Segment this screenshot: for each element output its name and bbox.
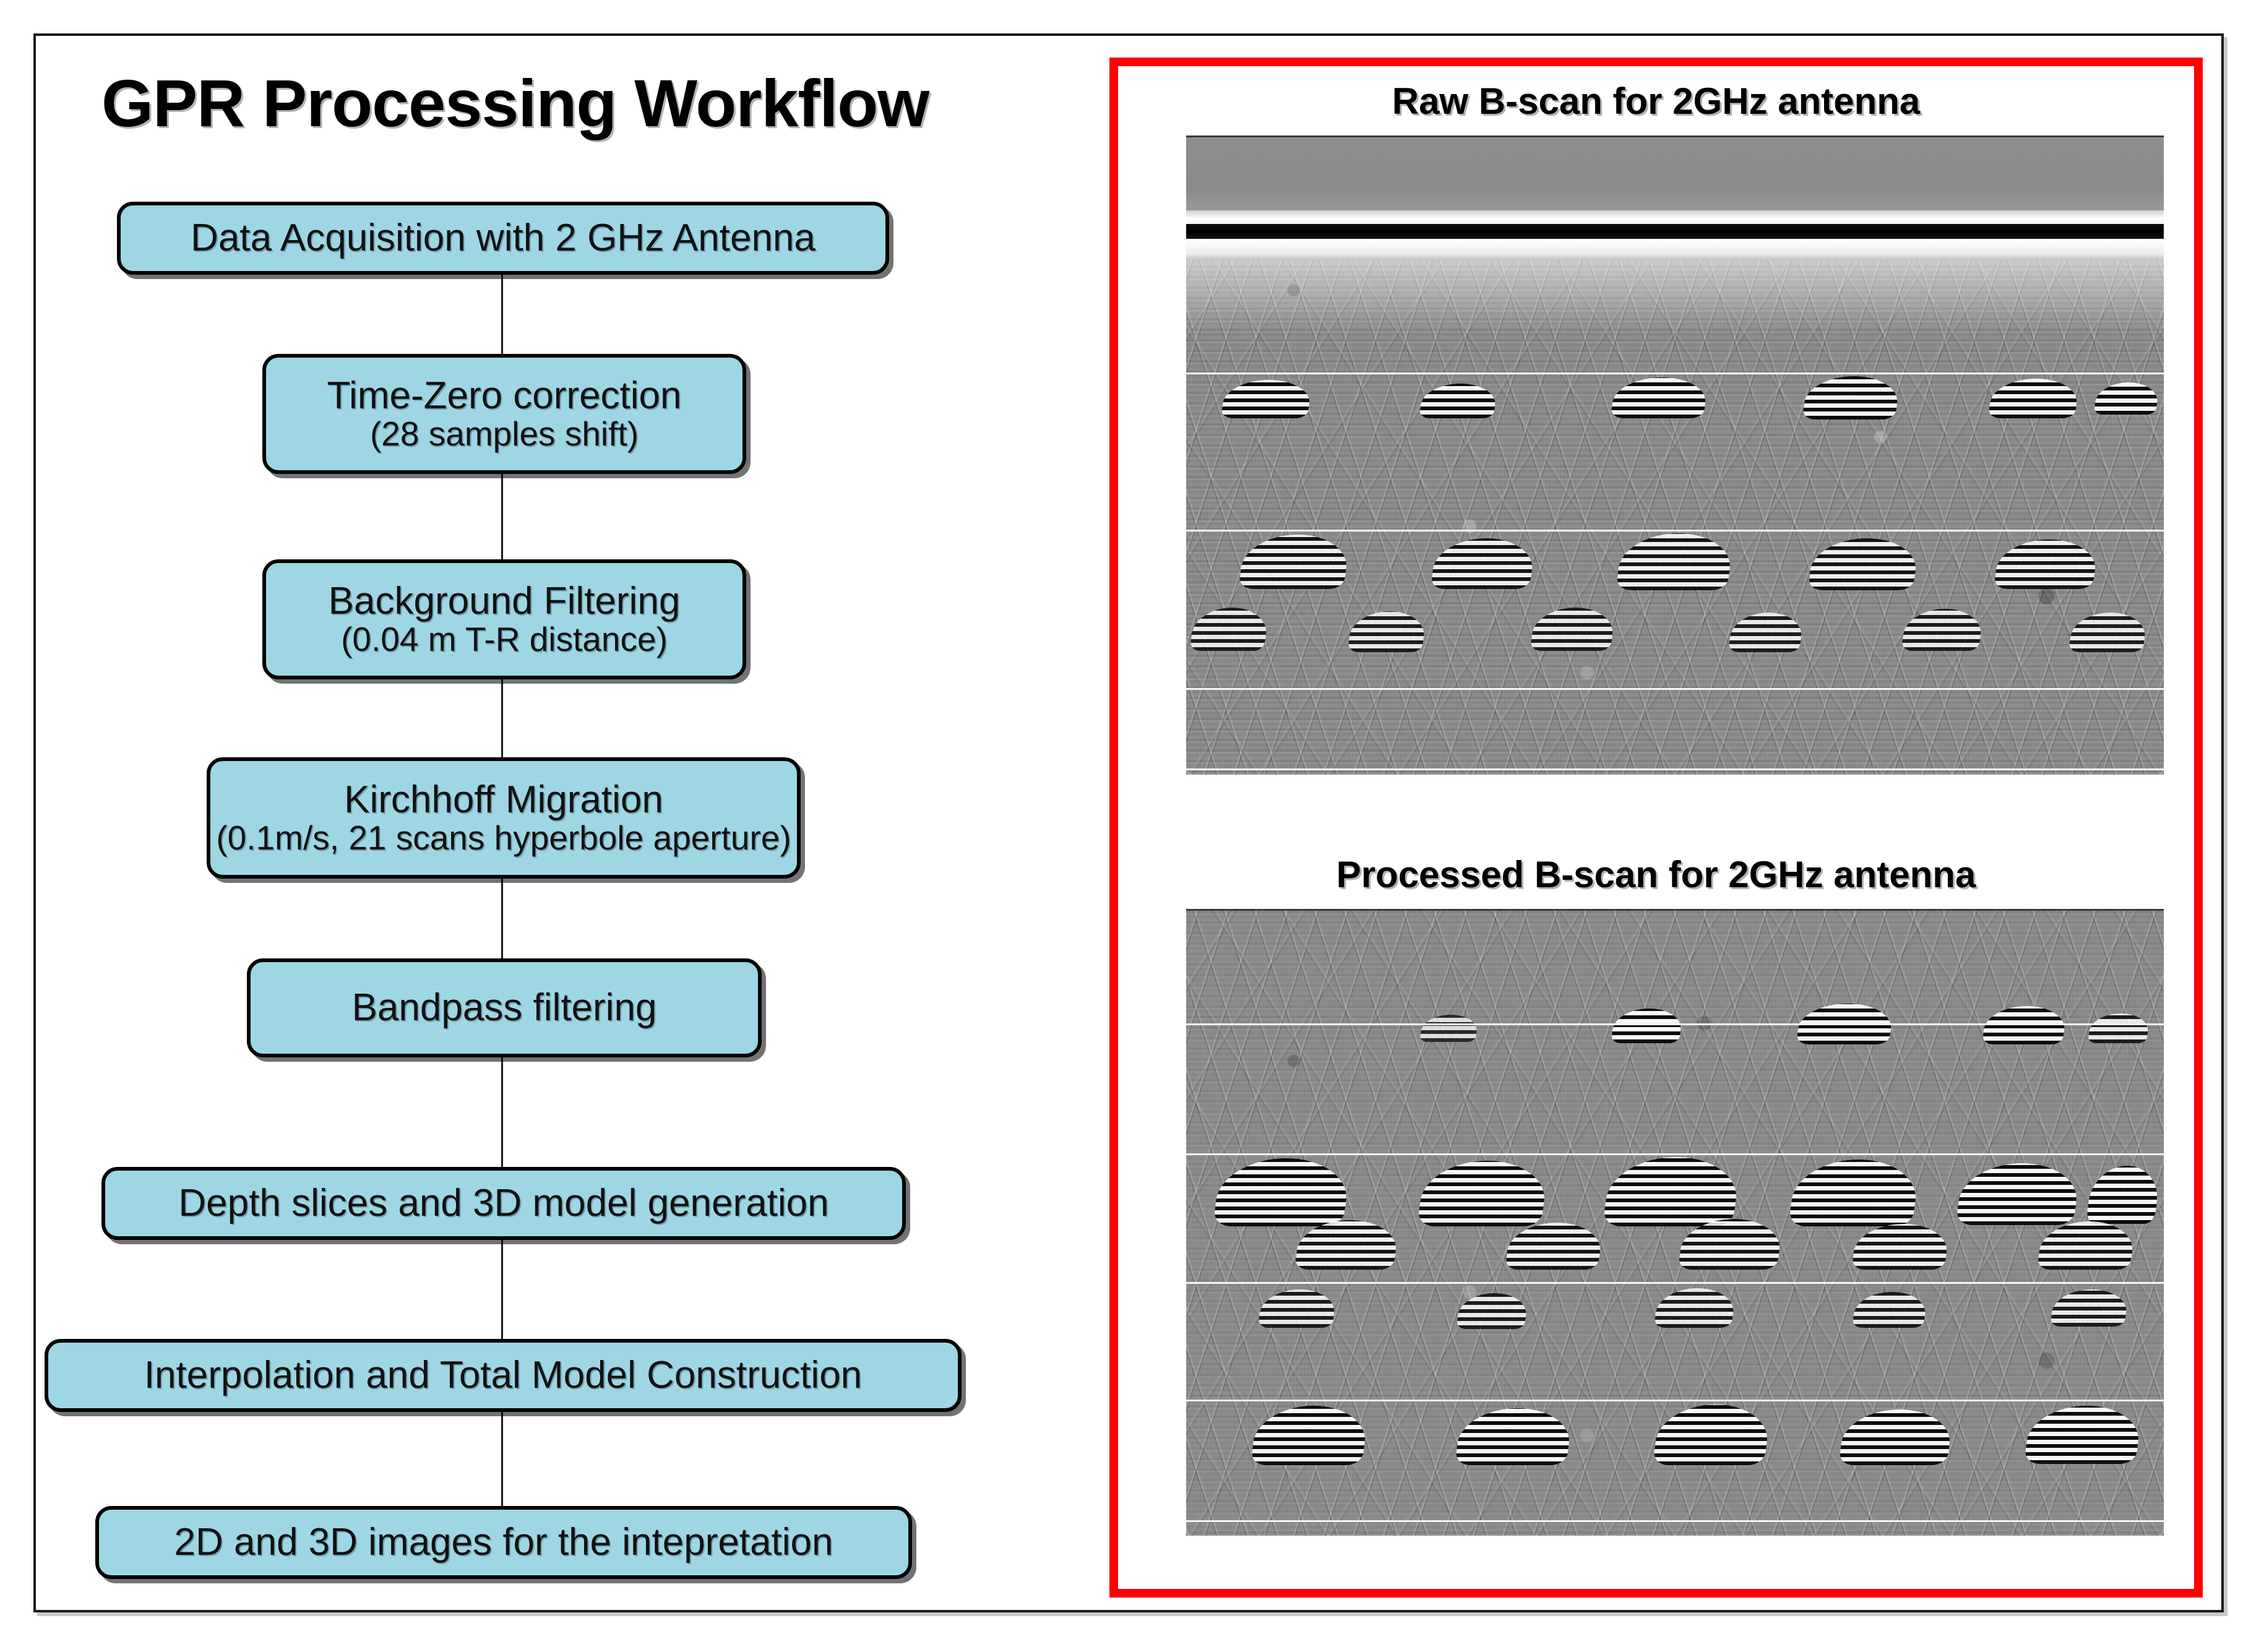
flow-step-2d-3d-images[interactable]: 2D and 3D images for the intepretation — [95, 1506, 912, 1579]
processed-bscan-radargram — [1186, 909, 2164, 1536]
gpr-workflow-flowchart: GPR Processing Workflow Data Acquisition… — [33, 33, 1073, 1612]
processed-bscan-title: Processed B-scan for 2GHz antenna — [1118, 853, 2194, 896]
flow-step-background-filtering[interactable]: Background Filtering (0.04 m T-R distanc… — [262, 559, 746, 679]
bscan-highlight-box: Raw B-scan for 2GHz antenna — [1109, 58, 2203, 1598]
raw-bscan-radargram — [1186, 136, 2164, 775]
flow-step-sublabel: (0.04 m T-R distance) — [341, 621, 668, 657]
flow-step-interpolation-total-model[interactable]: Interpolation and Total Model Constructi… — [45, 1339, 962, 1412]
page-title: GPR Processing Workflow — [101, 64, 929, 142]
flow-step-label: Interpolation and Total Model Constructi… — [144, 1356, 862, 1395]
flow-step-label: 2D and 3D images for the intepretation — [174, 1523, 833, 1562]
flow-step-sublabel: (28 samples shift) — [370, 416, 639, 452]
raw-bscan-direct-wave — [1186, 224, 2164, 239]
raw-bscan-title: Raw B-scan for 2GHz antenna — [1118, 80, 2194, 123]
raw-bscan-air-band — [1186, 137, 2164, 210]
flow-step-data-acquisition[interactable]: Data Acquisition with 2 GHz Antenna — [117, 202, 889, 275]
flow-step-bandpass-filtering[interactable]: Bandpass filtering — [247, 958, 762, 1057]
flow-step-label: Depth slices and 3D model generation — [178, 1184, 829, 1223]
flow-step-label: Time-Zero correction — [327, 376, 681, 416]
flow-step-label: Bandpass filtering — [352, 988, 657, 1028]
flow-step-sublabel: (0.1m/s, 21 scans hyperbole aperture) — [216, 820, 791, 856]
flow-step-time-zero-correction[interactable]: Time-Zero correction (28 samples shift) — [262, 354, 746, 474]
flow-step-depth-slices[interactable]: Depth slices and 3D model generation — [101, 1167, 906, 1240]
flow-step-kirchhoff-migration[interactable]: Kirchhoff Migration (0.1m/s, 21 scans hy… — [207, 757, 801, 879]
flow-step-label: Data Acquisition with 2 GHz Antenna — [191, 218, 816, 258]
flow-step-label: Background Filtering — [329, 582, 681, 621]
flow-step-label: Kirchhoff Migration — [344, 780, 663, 820]
